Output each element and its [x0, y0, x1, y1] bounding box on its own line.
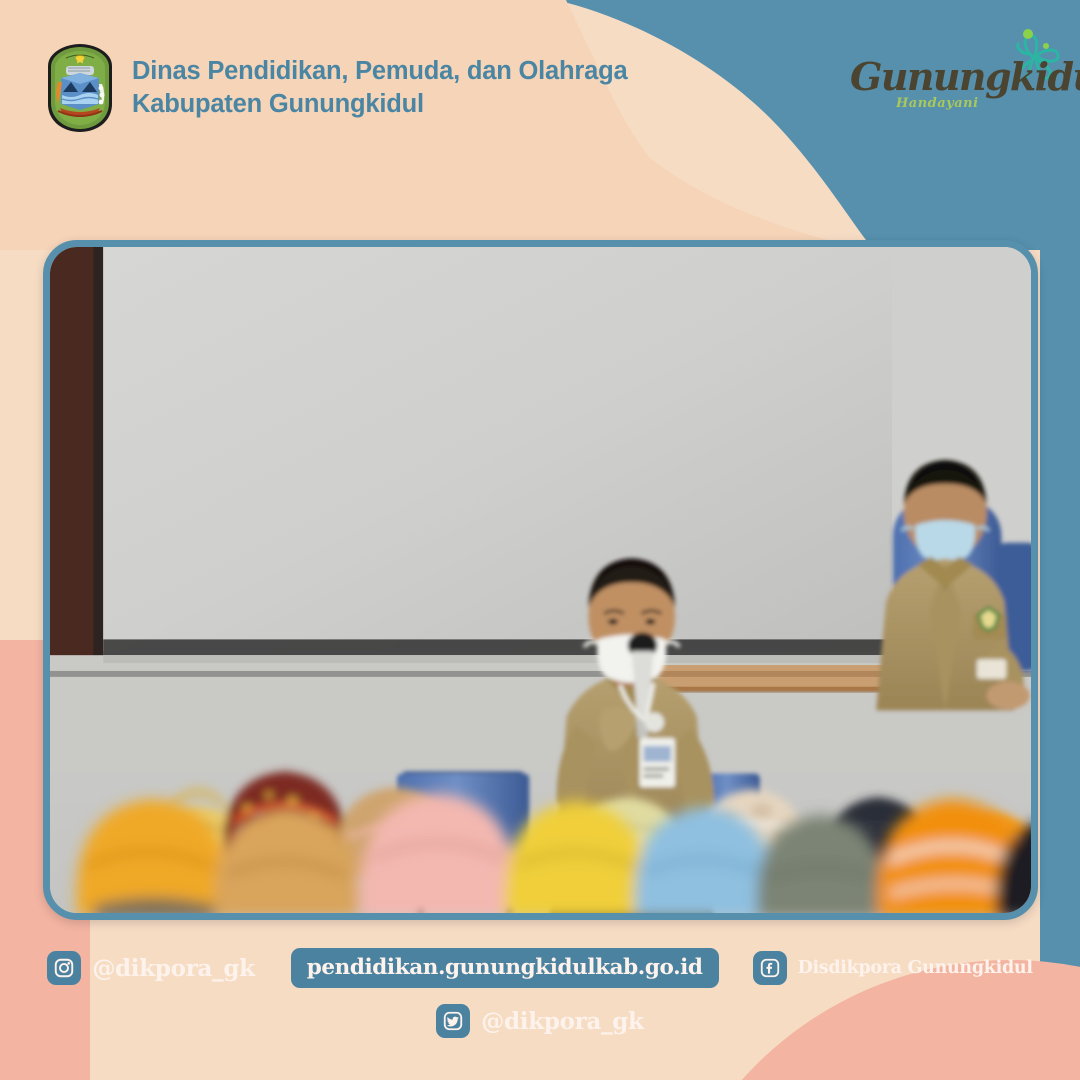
page-title: Dinas Pendidikan, Pemuda, dan Olahraga K… [132, 55, 627, 120]
website-url-pill[interactable]: pendidikan.gunungkidulkab.go.id [291, 948, 719, 988]
gunungkidul-coat-of-arms-icon [44, 42, 116, 134]
instagram-handle: @dikpora_gk [92, 955, 254, 982]
instagram-link[interactable]: @dikpora_gk [47, 951, 254, 985]
instagram-icon[interactable] [47, 951, 81, 985]
gunungkidul-brand-logo: Gunungkidul Handayani [844, 22, 1062, 122]
event-photo [50, 247, 1031, 917]
brand-wordmark: Gunungkidul [850, 54, 1080, 99]
twitter-link[interactable]: @dikpora_gk [436, 1004, 643, 1038]
brand-tagline: Handayani [896, 96, 979, 111]
facebook-page-name: Disdikpora Gunungkidul [798, 958, 1033, 978]
footer-social-bar: @dikpora_gk pendidikan.gunungkidulkab.go… [0, 930, 1080, 1080]
twitter-handle: @dikpora_gk [481, 1008, 643, 1035]
photo-frame [43, 240, 1038, 920]
header: Dinas Pendidikan, Pemuda, dan Olahraga K… [0, 0, 700, 175]
facebook-icon[interactable] [753, 951, 787, 985]
footer-row-primary: @dikpora_gk pendidikan.gunungkidulkab.go… [47, 948, 1032, 988]
twitter-icon[interactable] [436, 1004, 470, 1038]
facebook-link[interactable]: Disdikpora Gunungkidul [753, 951, 1033, 985]
footer-row-secondary: @dikpora_gk [436, 1004, 643, 1038]
